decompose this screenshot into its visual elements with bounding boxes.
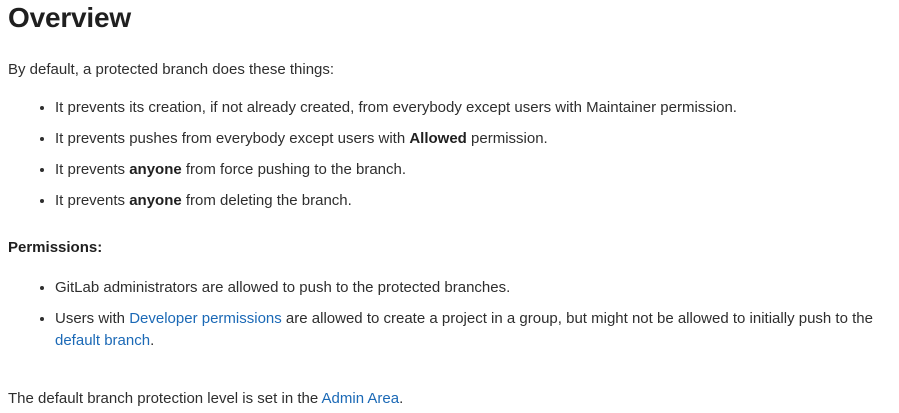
list-item-text: GitLab administrators are allowed to pus… <box>55 279 510 296</box>
default-branch-link[interactable]: default branch <box>55 332 150 349</box>
list-item: It prevents anyone from deleting the bra… <box>8 190 891 212</box>
bullet-point-icon <box>40 137 44 141</box>
list-item-text: Users with <box>55 310 129 327</box>
bullet-point-icon <box>40 286 44 290</box>
list-item: It prevents pushes from everybody except… <box>8 128 891 159</box>
documentation-content: Overview By default, a protected branch … <box>0 0 899 410</box>
list-item-emphasis: Allowed <box>409 130 467 147</box>
closing-text-tail: . <box>399 390 403 407</box>
list-item: It prevents its creation, if not already… <box>8 97 891 128</box>
list-item-text-tail: . <box>150 332 154 349</box>
admin-area-link[interactable]: Admin Area <box>322 390 400 407</box>
developer-permissions-link[interactable]: Developer permissions <box>129 310 282 327</box>
list-item-emphasis: anyone <box>129 161 182 178</box>
page-title: Overview <box>8 0 891 34</box>
list-item: It prevents anyone from force pushing to… <box>8 159 891 190</box>
permissions-list: GitLab administrators are allowed to pus… <box>8 259 891 361</box>
list-item-text-tail: permission. <box>467 130 548 147</box>
list-item-text: It prevents its creation, if not already… <box>55 99 737 116</box>
bullet-point-icon <box>40 106 44 110</box>
list-item: GitLab administrators are allowed to pus… <box>8 277 891 308</box>
permissions-heading: Permissions: <box>8 212 891 259</box>
list-item-text: It prevents <box>55 161 129 178</box>
list-item-text-tail: from deleting the branch. <box>182 192 352 209</box>
list-item: Users with Developer permissions are all… <box>8 308 891 361</box>
bullet-point-icon <box>40 199 44 203</box>
list-item-text: It prevents <box>55 192 129 209</box>
list-item-text-tail: from force pushing to the branch. <box>182 161 406 178</box>
closing-text: The default branch protection level is s… <box>8 390 322 407</box>
closing-paragraph: The default branch protection level is s… <box>8 361 891 410</box>
list-item-emphasis: anyone <box>129 192 182 209</box>
list-item-text: It prevents pushes from everybody except… <box>55 130 409 147</box>
intro-paragraph: By default, a protected branch does thes… <box>8 34 891 81</box>
bullet-point-icon <box>40 317 44 321</box>
protected-branch-behavior-list: It prevents its creation, if not already… <box>8 81 891 212</box>
list-item-text-middle: are allowed to create a project in a gro… <box>282 310 873 327</box>
bullet-point-icon <box>40 168 44 172</box>
